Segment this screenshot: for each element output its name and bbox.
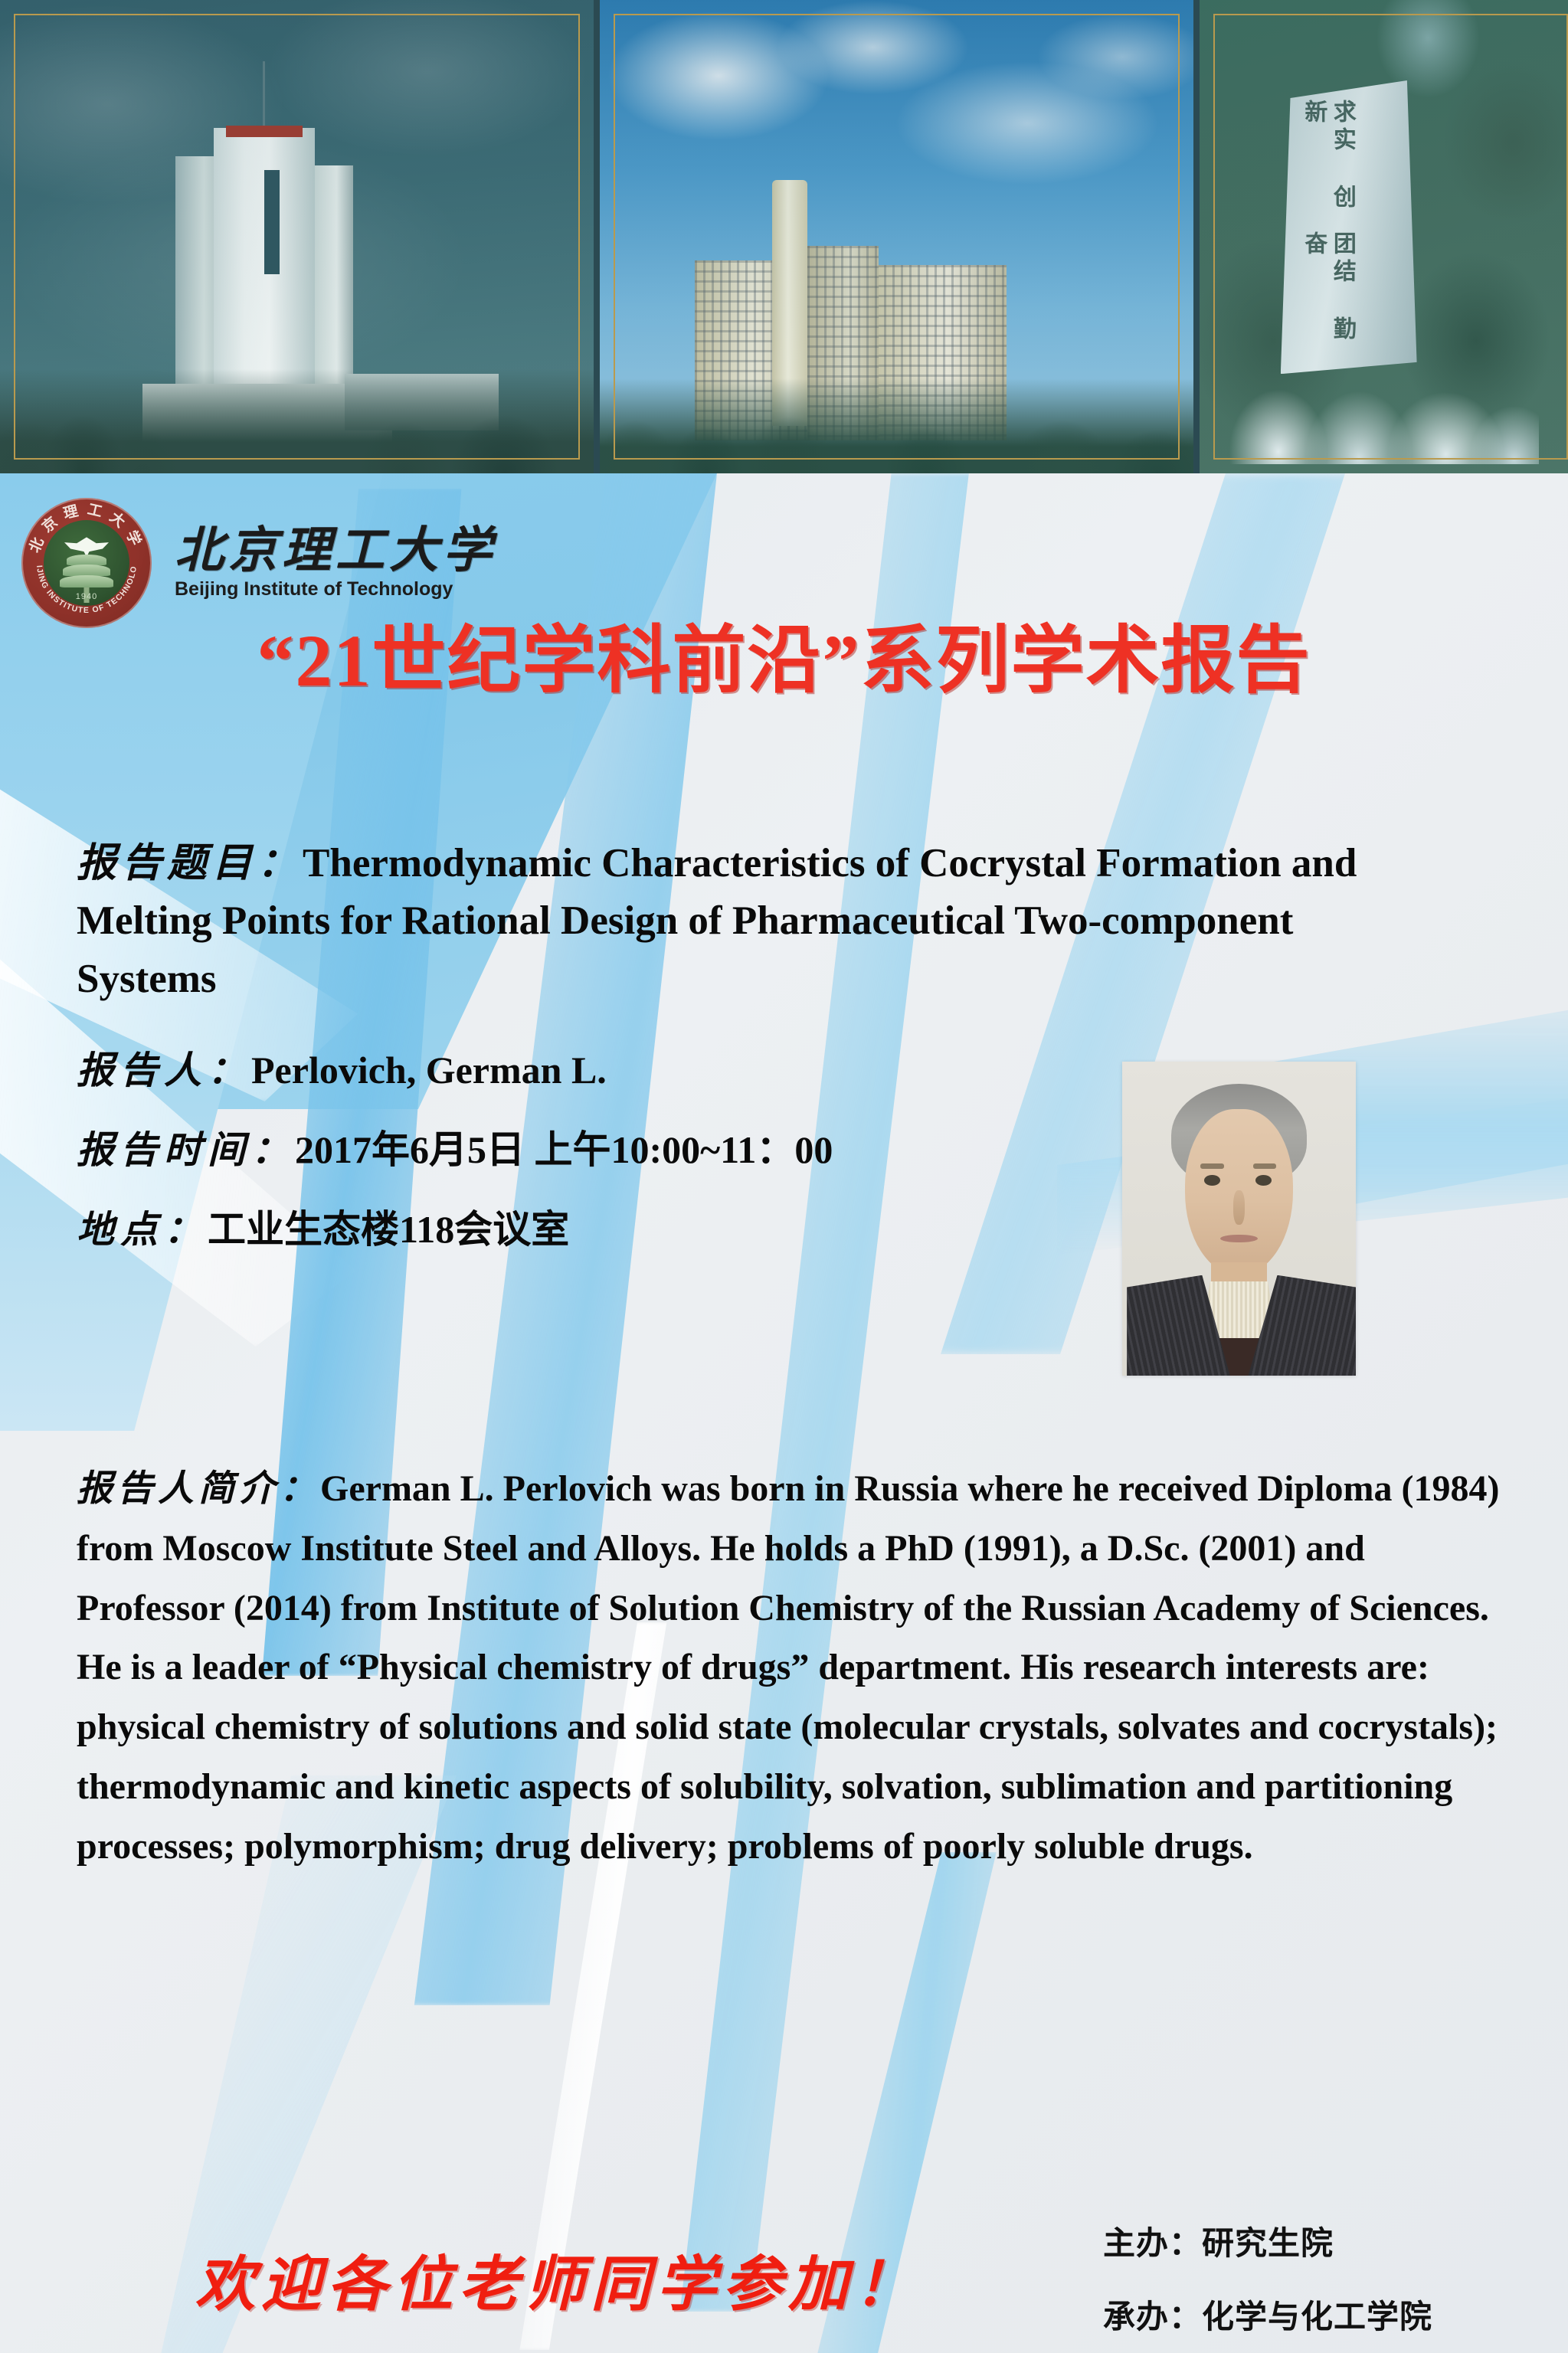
foreground-trees (0, 369, 594, 473)
photo-2-content (600, 0, 1193, 473)
portrait-mouth (1220, 1235, 1258, 1243)
monument-inscription: 团结 勤奋 求实 创新 (1299, 100, 1357, 355)
tower-window-slit (264, 170, 280, 274)
bio-text: German L. Perlovich was born in Russia w… (77, 1468, 1499, 1867)
host-line: 主办：研究生院 (1103, 2227, 1432, 2260)
portrait-nose (1233, 1190, 1245, 1225)
foreground-trees (600, 378, 1193, 473)
portrait-eye-right (1255, 1175, 1272, 1186)
time-label: 报告时间： (77, 1129, 295, 1171)
speaker-value: Perlovich, German L. (251, 1049, 607, 1091)
series-title: “21世纪学科前沿”系列学术报告 (0, 620, 1568, 702)
header-photo-band: 团结 勤奋 求实 创新 (0, 0, 1568, 473)
seminar-poster: 团结 勤奋 求实 创新 北京理工大学 (0, 0, 1568, 2353)
university-name-en: Beijing Institute of Technology (175, 578, 496, 601)
tower-right-wing (312, 165, 353, 388)
university-wordmark: 北京理工大学 Beijing Institute of Technology (175, 526, 496, 601)
bit-main-tower-photo (0, 0, 594, 473)
welcome-message: 欢迎各位老师同学参加！ (195, 2237, 920, 2322)
speaker-bio-block: 报告人简介：German L. Perlovich was born in Ru… (77, 1459, 1517, 1876)
speaker-portrait-photo (1122, 1062, 1356, 1376)
poster-background-art (0, 473, 1568, 2353)
venue-value: 工业生态楼118会议室 (208, 1208, 569, 1251)
rooftop-sign (226, 126, 303, 137)
portrait-eye-left (1204, 1175, 1220, 1186)
organizer-line: 承办：化学与化工学院 (1103, 2301, 1432, 2333)
seal-emblem-center: 1940 (44, 520, 129, 606)
monument-inscription-line-2: 求实 创新 (1299, 100, 1357, 224)
time-value: 2017年6月5日 上午10:00~11：00 (295, 1128, 833, 1171)
venue-label: 地点： (77, 1209, 208, 1251)
bit-seal-icon: 北京理工大学 BEIJING INSTITUTE OF TECHNOLOGY 1… (21, 498, 152, 628)
rock-base (1229, 341, 1538, 464)
tree-tier (67, 555, 106, 565)
campus-building-photo (600, 0, 1193, 473)
tree-tier (60, 575, 113, 587)
tree-tier (63, 565, 110, 576)
seal-founding-year: 1940 (76, 592, 97, 601)
talk-title-block: 报告题目：Thermodynamic Characteristics of Co… (77, 835, 1425, 1008)
photo-3-content: 团结 勤奋 求实 创新 (1200, 0, 1568, 473)
talk-title-label: 报告题目： (77, 842, 303, 885)
campus-monument-photo: 团结 勤奋 求实 创新 (1200, 0, 1568, 473)
organizer-block: 主办：研究生院 承办：化学与化工学院 (1103, 2227, 1432, 2353)
photo-1-content (0, 0, 594, 473)
university-name-cn: 北京理工大学 (175, 526, 496, 575)
blue-ray-3 (659, 473, 1011, 2312)
university-logo-row: 北京理工大学 BEIJING INSTITUTE OF TECHNOLOGY 1… (21, 498, 496, 628)
monument-inscription-line-1: 团结 勤奋 (1299, 231, 1357, 355)
speaker-label: 报告人： (77, 1049, 251, 1091)
portrait-eyebrow-left (1200, 1163, 1224, 1169)
portrait-eyebrow-right (1253, 1163, 1277, 1169)
bio-label: 报告人简介： (77, 1469, 320, 1509)
